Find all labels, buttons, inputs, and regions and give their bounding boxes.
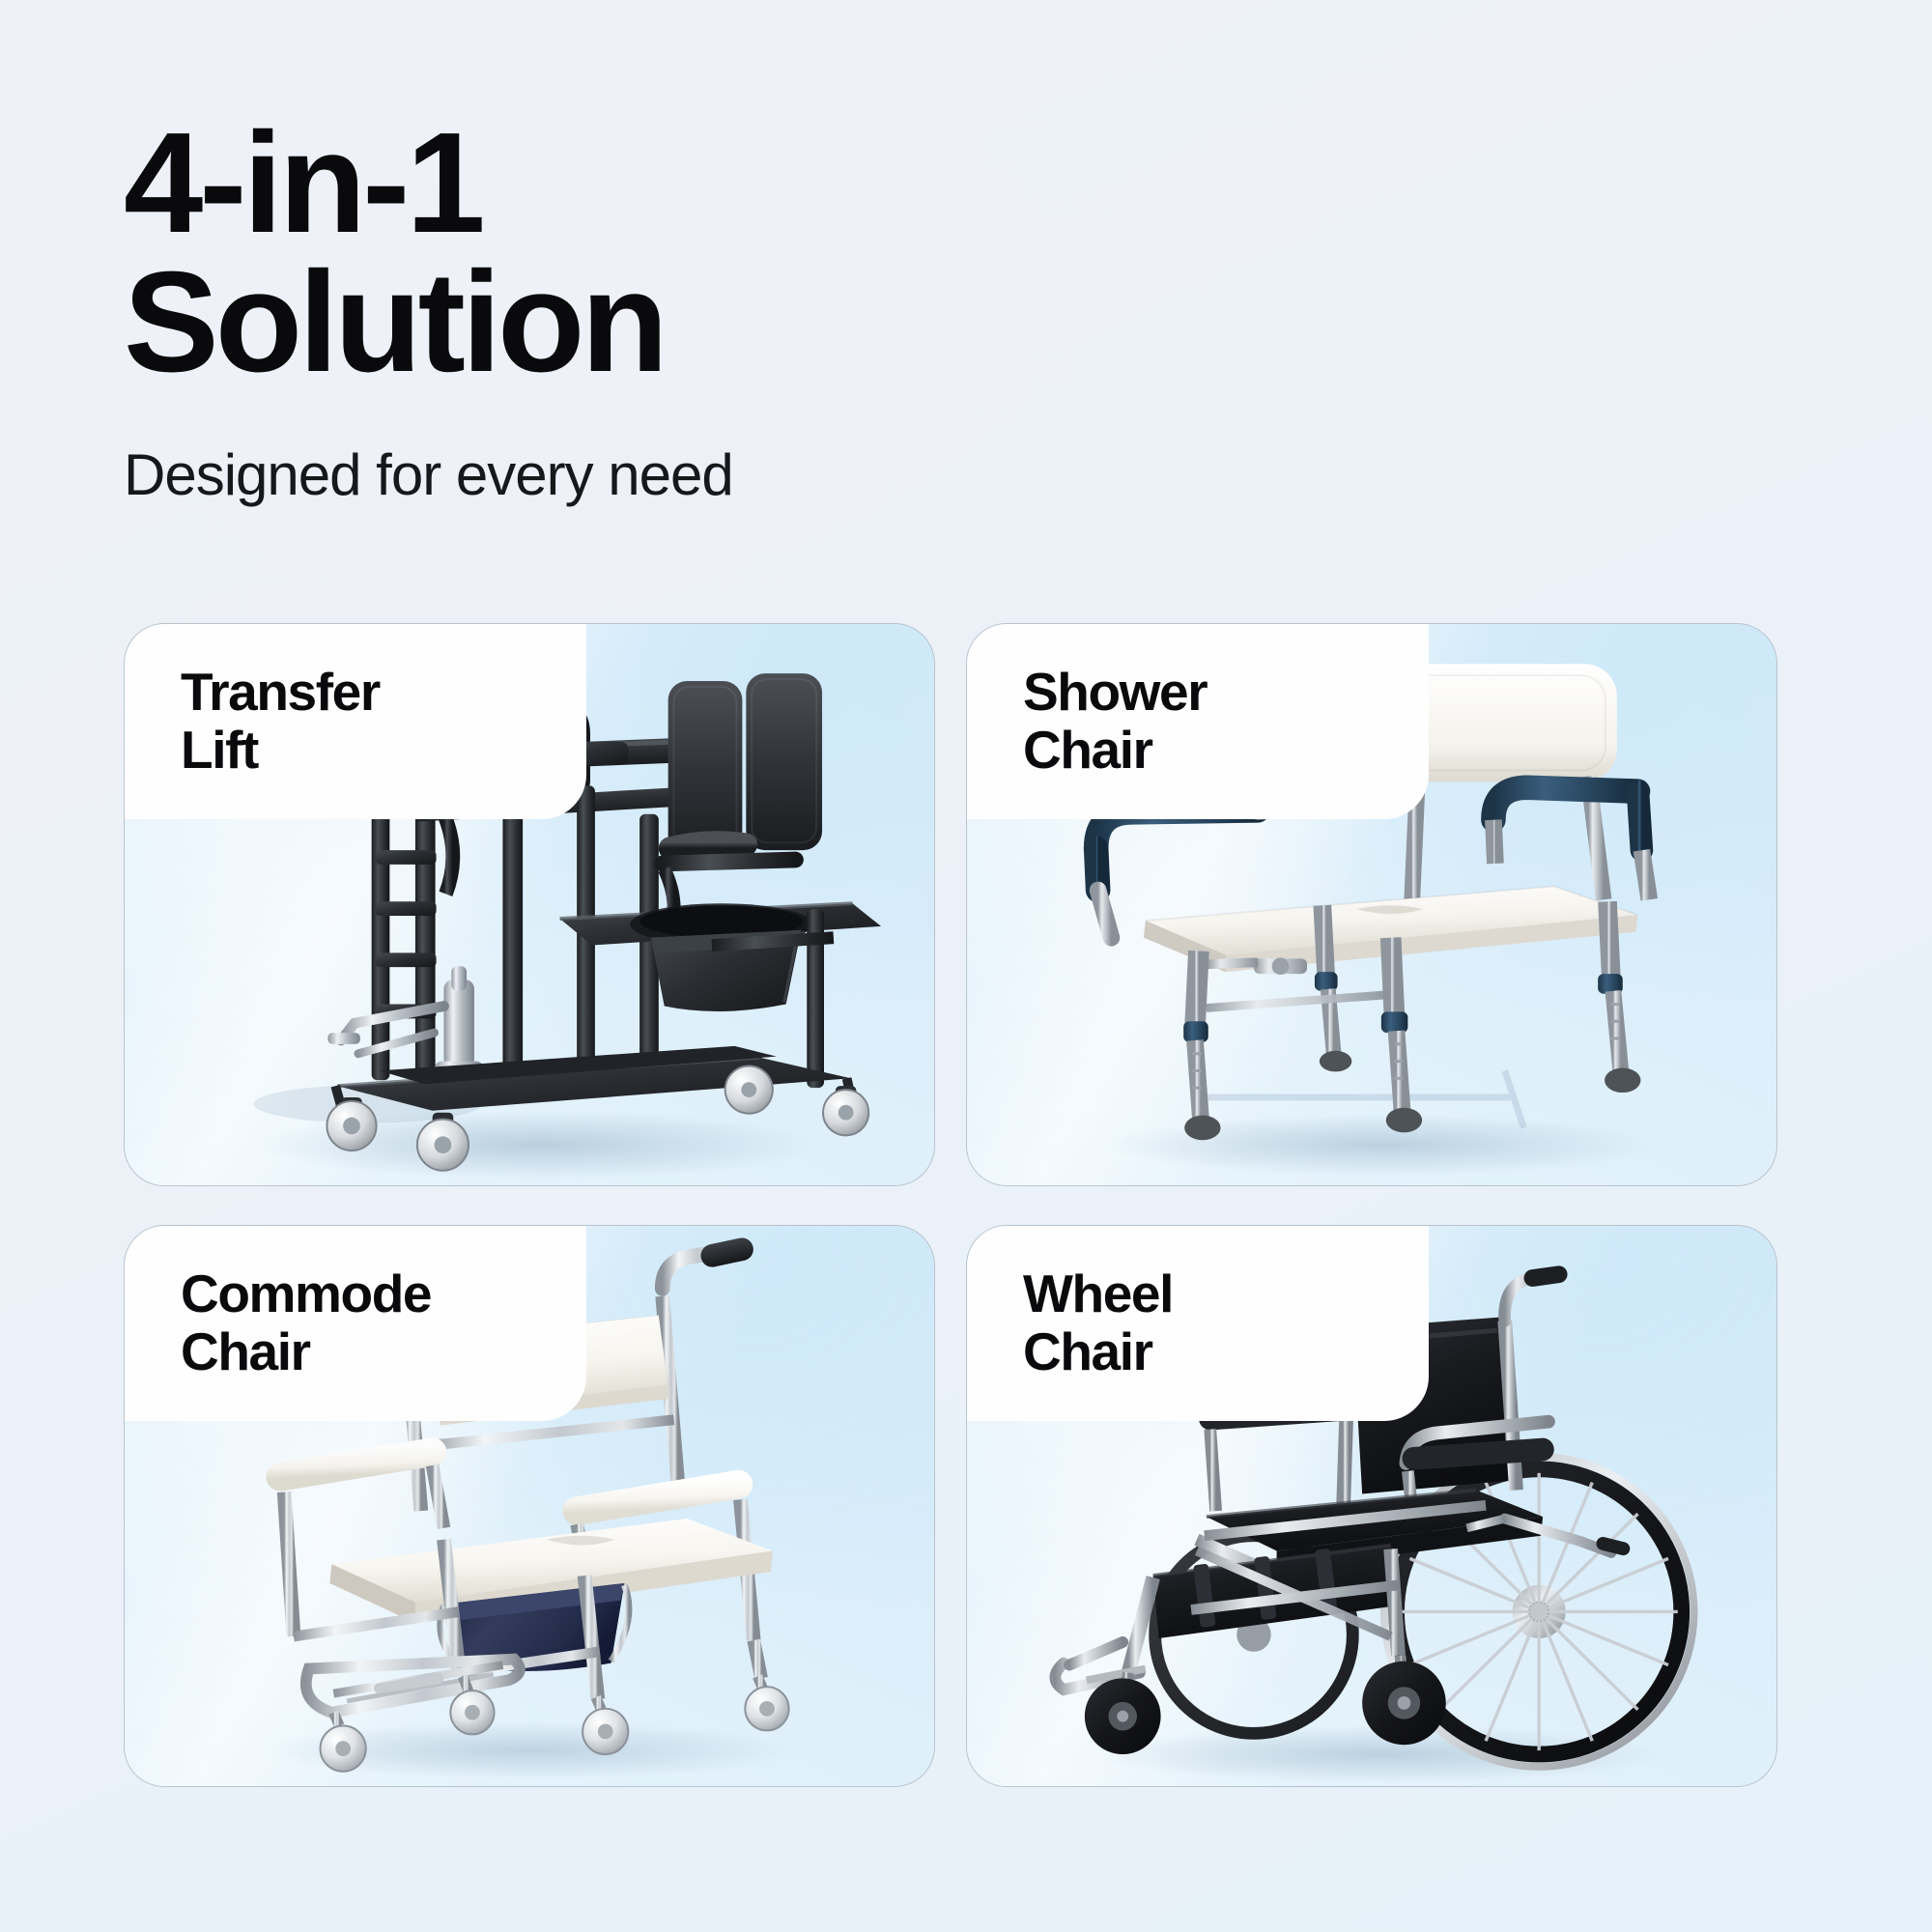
product-card-grid: Transfer Lift: [124, 623, 1777, 1787]
product-card-shower-chair[interactable]: Shower Chair: [966, 623, 1777, 1186]
card-label-tab-commode-chair: Commode Chair: [125, 1226, 586, 1421]
card-label-text: Commode Chair: [181, 1265, 431, 1381]
card-label-tab-shower-chair: Shower Chair: [967, 624, 1429, 819]
card-label-text: Transfer Lift: [181, 664, 380, 780]
product-card-wheel-chair[interactable]: Wheel Chair: [966, 1225, 1777, 1788]
card-label-text: Wheel Chair: [1023, 1265, 1173, 1381]
card-label-text: Shower Chair: [1023, 664, 1207, 780]
page-title: 4-in-1 Solution: [124, 114, 1283, 391]
product-card-commode-chair[interactable]: Commode Chair: [124, 1225, 935, 1788]
card-label-tab-transfer-lift: Transfer Lift: [125, 624, 586, 819]
page-subtitle: Designed for every need: [124, 441, 1283, 508]
headline-line-2: Solution: [124, 253, 1283, 392]
product-card-transfer-lift[interactable]: Transfer Lift: [124, 623, 935, 1186]
headline-line-1: 4-in-1: [124, 103, 482, 263]
card-label-tab-wheel-chair: Wheel Chair: [967, 1226, 1429, 1421]
header: 4-in-1 Solution Designed for every need: [124, 114, 1283, 508]
